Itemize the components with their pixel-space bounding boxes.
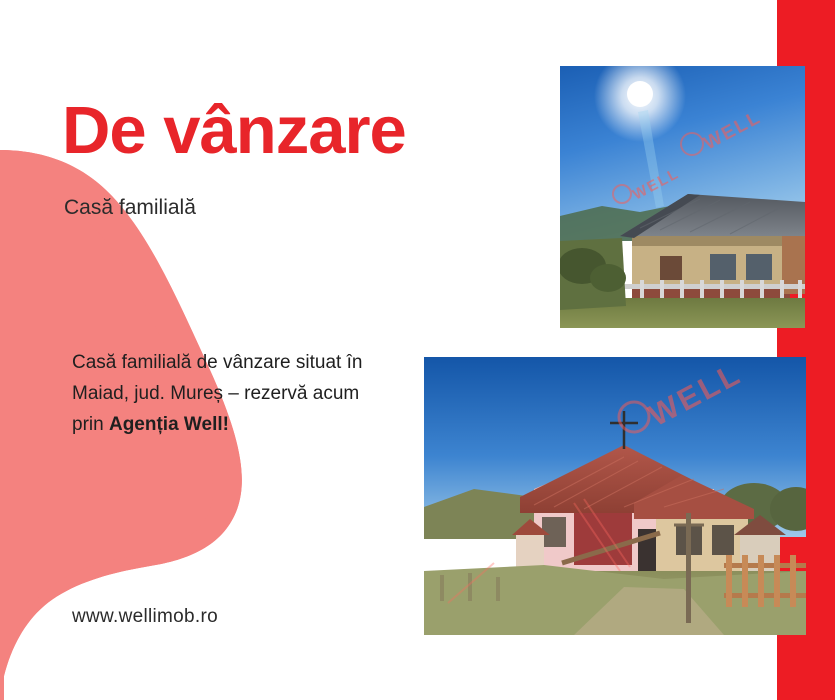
page-subtitle: Casă familială [64, 196, 196, 220]
poster-canvas: De vânzare Casă familială Casă familială… [0, 0, 835, 700]
page-title: De vânzare [62, 96, 406, 166]
website-url[interactable]: www.wellimob.ro [72, 606, 218, 628]
description-text-emphasis: Agenția Well! [109, 414, 229, 435]
description-text: Casă familială de vânzare situat în Maia… [72, 348, 382, 440]
house-photo-top: WELL WELL [560, 66, 805, 328]
house-photo-bottom: WELL [424, 357, 806, 635]
